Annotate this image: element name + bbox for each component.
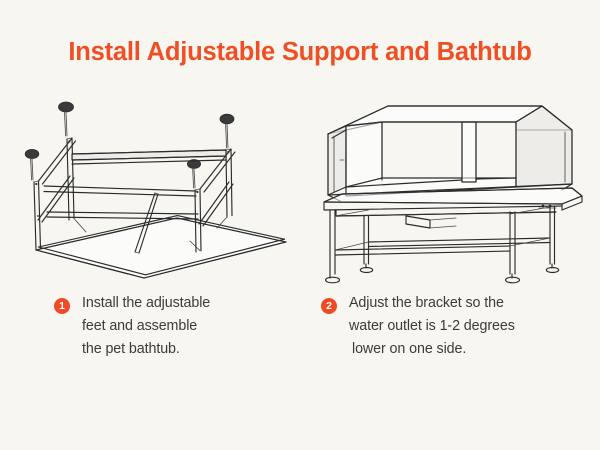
bathtub-basin [328, 106, 572, 201]
step-1-caption: 1 Install the adjustable feet and assemb… [54, 292, 284, 361]
page-title: Install Adjustable Support and Bathtub [0, 38, 600, 67]
adjustable-foot-rear-left-icon [59, 102, 74, 136]
figure-bathtub-mounted-on-support-frame [310, 92, 595, 287]
instruction-poster: Install Adjustable Support and Bathtub [0, 0, 600, 450]
step-2-line-1: Adjust the bracket so the [349, 292, 515, 315]
step-1-text: Install the adjustable feet and assemble… [82, 292, 210, 361]
step-1-line-3: the pet bathtub. [82, 338, 210, 361]
step-1-line-2: feet and assemble [82, 315, 210, 338]
leg-adjustable-foot-front-left [326, 274, 340, 283]
leg-adjustable-foot-front-right [506, 274, 520, 283]
caption-row: 1 Install the adjustable feet and assemb… [0, 292, 600, 382]
frame-long-rail-upper [72, 150, 226, 164]
adjustable-foot-rear-right-icon [220, 114, 234, 148]
frame-end-rail-right [199, 182, 233, 226]
figure-support-frame-with-adjustable-feet [14, 92, 304, 287]
step-2-text: Adjust the bracket so the water outlet i… [349, 292, 515, 361]
frame-leg-front-left [34, 181, 41, 250]
frame-base-rails [36, 216, 286, 278]
step-2-badge: 2 [321, 298, 337, 314]
leg-adjustable-foot-rear-left [360, 264, 372, 273]
step-2-caption: 2 Adjust the bracket so the water outlet… [321, 292, 561, 361]
step-2-line-3: lower on one side. [349, 338, 515, 361]
step-1-line-1: Install the adjustable [82, 292, 210, 315]
leg-adjustable-foot-rear-right [546, 264, 558, 273]
adjustable-foot-front-left-icon [25, 149, 39, 180]
adjustable-foot-front-right-icon [187, 160, 200, 189]
support-frame-drawing [14, 92, 304, 287]
bathtub-on-frame-drawing [310, 92, 595, 287]
illustration-row [0, 92, 600, 287]
step-2-line-2: water outlet is 1-2 degrees [349, 315, 515, 338]
step-1-badge: 1 [54, 298, 70, 314]
